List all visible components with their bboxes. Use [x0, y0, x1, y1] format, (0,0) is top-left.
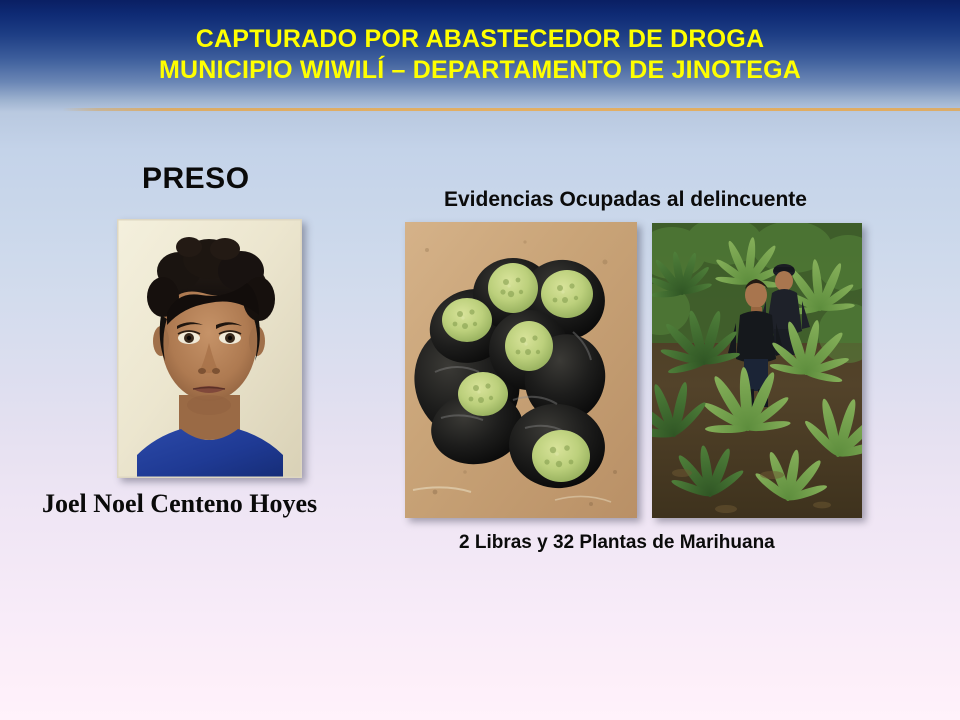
preso-label: PRESO [142, 162, 250, 196]
evidencias-heading: Evidencias Ocupadas al delincuente [444, 188, 807, 212]
title-line-1: CAPTURADO POR ABASTECEDOR DE DROGA [0, 24, 960, 55]
drug-evidence-photo [405, 222, 637, 518]
detainee-name-label: Joel Noel Centeno Hoyes [42, 489, 317, 519]
title-line-2: MUNICIPIO WIWILÍ – DEPARTAMENTO DE JINOT… [0, 55, 960, 86]
evidence-caption-label: 2 Libras y 32 Plantas de Marihuana [459, 532, 775, 554]
mugshot-photo [117, 219, 302, 478]
slide-title: CAPTURADO POR ABASTECEDOR DE DROGA MUNIC… [0, 24, 960, 86]
slide-canvas: CAPTURADO POR ABASTECEDOR DE DROGA MUNIC… [0, 0, 960, 720]
header-divider [62, 108, 960, 111]
plantation-photo [652, 223, 862, 518]
